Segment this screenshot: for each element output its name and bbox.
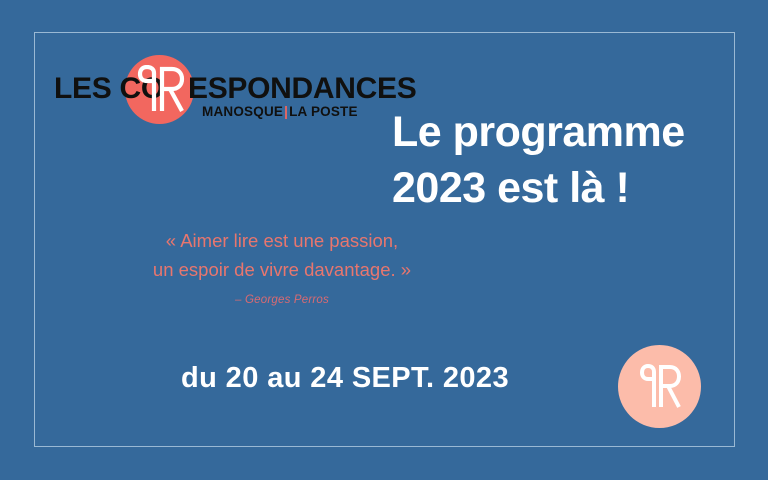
rr-monogram-icon (635, 364, 685, 409)
quote-attribution: – Georges Perros (132, 294, 432, 306)
headline-line-2: 2023 est là ! (392, 160, 732, 216)
logo-subtitle-partner: LA POSTE (289, 104, 358, 119)
quote-line-1: « Aimer lire est une passion, (132, 226, 432, 255)
poster-canvas: LES CO ESPONDANCES MANOSQUE|LA POSTE Le … (0, 0, 768, 480)
rr-badge (618, 345, 701, 428)
quote-text: « Aimer lire est une passion, un espoir … (132, 226, 432, 284)
event-dates: du 20 au 24 SEPT. 2023 (130, 362, 560, 395)
logo-wordmark-part2: ESPONDANCES (188, 71, 416, 107)
logo-subtitle-city: MANOSQUE (202, 104, 283, 119)
headline-line-1: Le programme (392, 104, 732, 160)
logo-subtitle: MANOSQUE|LA POSTE (202, 103, 358, 121)
rr-monogram-icon (132, 65, 188, 113)
festival-logo: LES CO ESPONDANCES MANOSQUE|LA POSTE (54, 55, 354, 125)
headline: Le programme 2023 est là ! (392, 104, 732, 216)
logo-wordmark: LES CO ESPONDANCES (54, 71, 354, 107)
quote-line-2: un espoir de vivre davantage. » (132, 255, 432, 284)
